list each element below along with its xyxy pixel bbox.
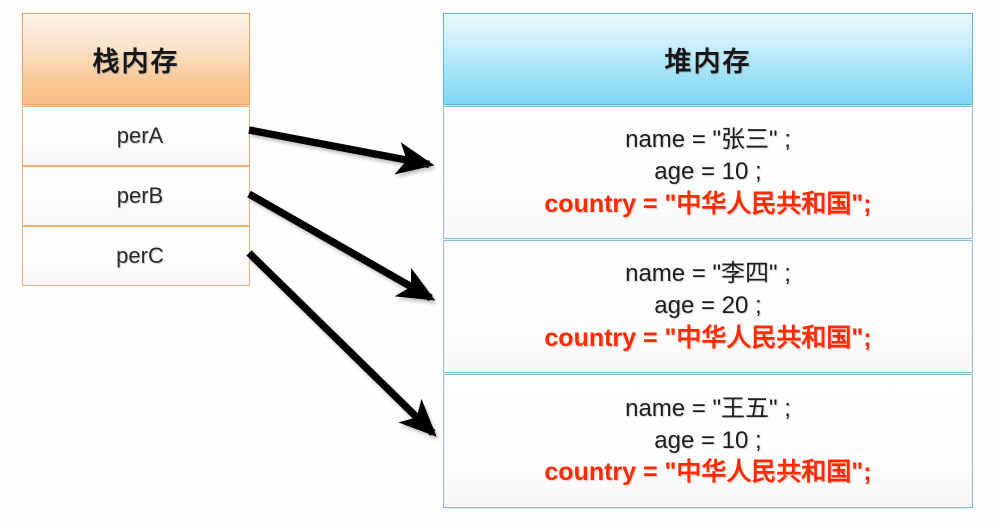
stack-cell-label: perA: [109, 123, 163, 149]
heap-memory-panel: 堆内存 name = "张三" ; age = 10 ; country = "…: [443, 13, 973, 508]
heap-field-name: name = "张三" ;: [625, 124, 791, 156]
arrow-perB-to-block-1: [249, 194, 431, 298]
heap-field-age: age = 20 ;: [654, 290, 761, 322]
stack-memory-title: 栈内存: [93, 40, 180, 79]
stack-cell-label: perB: [109, 183, 163, 209]
heap-field-country: country = "中华人民共和国";: [544, 188, 871, 221]
heap-object-block-1[interactable]: name = "李四" ; age = 20 ; country = "中华人民…: [443, 240, 973, 373]
stack-memory-header: 栈内存: [22, 13, 250, 105]
heap-object-block-2[interactable]: name = "王五" ; age = 10 ; country = "中华人民…: [443, 374, 973, 508]
stack-memory-panel: 栈内存 perA perB perC: [22, 13, 250, 286]
stack-cell-perA[interactable]: perA: [22, 106, 250, 166]
arrow-perC-to-block-2: [249, 253, 433, 433]
stack-cell-perC[interactable]: perC: [22, 226, 250, 286]
arrow-perA-to-block-0: [249, 130, 429, 164]
stack-cell-perB[interactable]: perB: [22, 166, 250, 226]
heap-object-block-0[interactable]: name = "张三" ; age = 10 ; country = "中华人民…: [443, 106, 973, 239]
stack-cell-label: perC: [108, 243, 164, 269]
heap-memory-title: 堆内存: [665, 40, 752, 79]
heap-field-age: age = 10 ;: [654, 156, 761, 188]
heap-field-age: age = 10 ;: [654, 425, 761, 457]
heap-field-name: name = "王五" ;: [625, 393, 791, 425]
heap-field-name: name = "李四" ;: [625, 258, 791, 290]
heap-memory-header: 堆内存: [443, 13, 973, 105]
heap-field-country: country = "中华人民共和国";: [544, 322, 871, 355]
heap-field-country: country = "中华人民共和国";: [544, 456, 871, 489]
